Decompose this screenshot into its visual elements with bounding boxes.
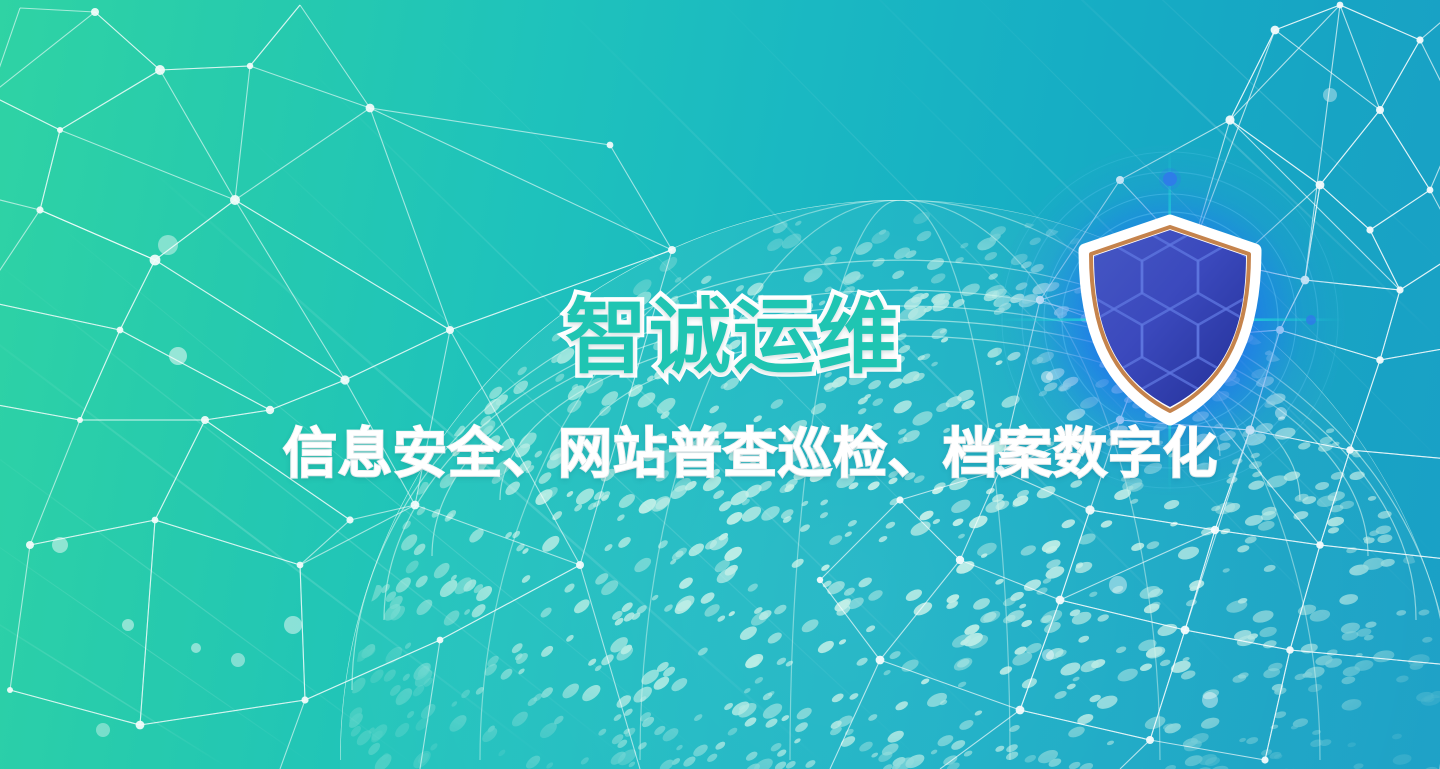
hero-banner: 智诚运维 信息安全、网站普查巡检、档案数字化 [0,0,1440,769]
shield-icon [1055,205,1285,435]
page-subtitle: 信息安全、网站普查巡检、档案数字化 [283,427,1218,481]
page-title: 智诚运维 [565,297,901,379]
shield-emblem [1055,205,1285,435]
